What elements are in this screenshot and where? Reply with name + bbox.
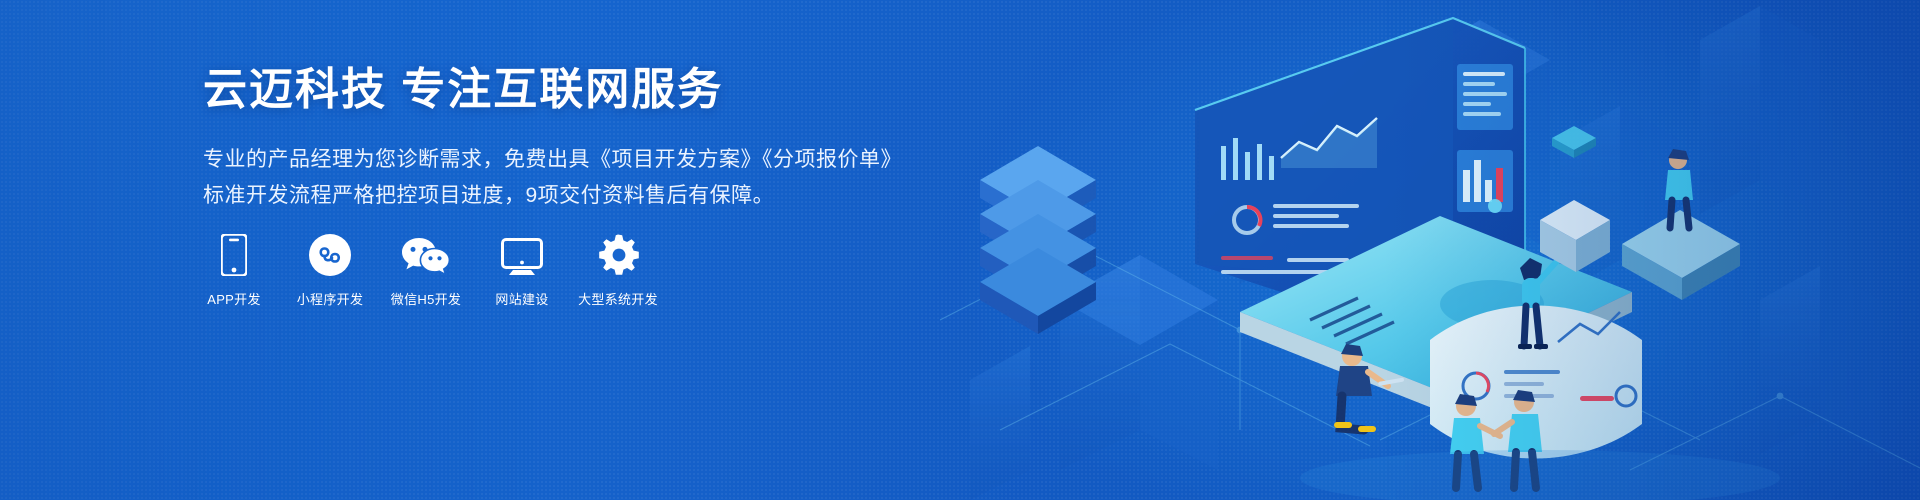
hero-banner: 云迈科技 专注互联网服务 专业的产品经理为您诊断需求，免费出具《项目开发方案》《… (0, 0, 1920, 500)
banner-subtitle-line-1: 专业的产品经理为您诊断需求，免费出具《项目开发方案》《分项报价单》 (203, 143, 923, 177)
banner-subtitle-line-2: 标准开发流程严格把控项目进度，9项交付资料售后有保障。 (203, 179, 923, 213)
illustration-container (940, 0, 1920, 500)
service-item-app[interactable]: APP开发 (203, 230, 265, 308)
mobile-phone-icon (221, 230, 247, 276)
service-label: 大型系统开发 (578, 289, 658, 308)
service-label: 小程序开发 (297, 289, 364, 308)
banner-headline: 云迈科技 专注互联网服务 (203, 64, 923, 117)
screen-touch-point (1488, 199, 1502, 213)
service-item-large-system[interactable]: 大型系统开发 (587, 230, 649, 308)
isometric-tech-illustration (940, 0, 1920, 500)
service-item-mini-program[interactable]: 小程序开发 (299, 230, 361, 308)
service-label: APP开发 (207, 289, 261, 308)
service-list: APP开发 小程序开发 (203, 230, 649, 308)
banner-content: 云迈科技 专注互联网服务 专业的产品经理为您诊断需求，免费出具《项目开发方案》《… (203, 64, 923, 213)
mini-program-icon (309, 230, 351, 276)
ground-glow (1300, 450, 1780, 500)
service-label: 网站建设 (495, 289, 548, 308)
gear-icon (597, 230, 639, 276)
service-item-website[interactable]: 网站建设 (491, 230, 553, 308)
service-item-wechat-h5[interactable]: 微信H5开发 (395, 230, 457, 308)
service-label: 微信H5开发 (391, 289, 461, 308)
wechat-icon (402, 230, 450, 276)
monitor-icon (501, 230, 543, 276)
server-stack (980, 146, 1096, 334)
